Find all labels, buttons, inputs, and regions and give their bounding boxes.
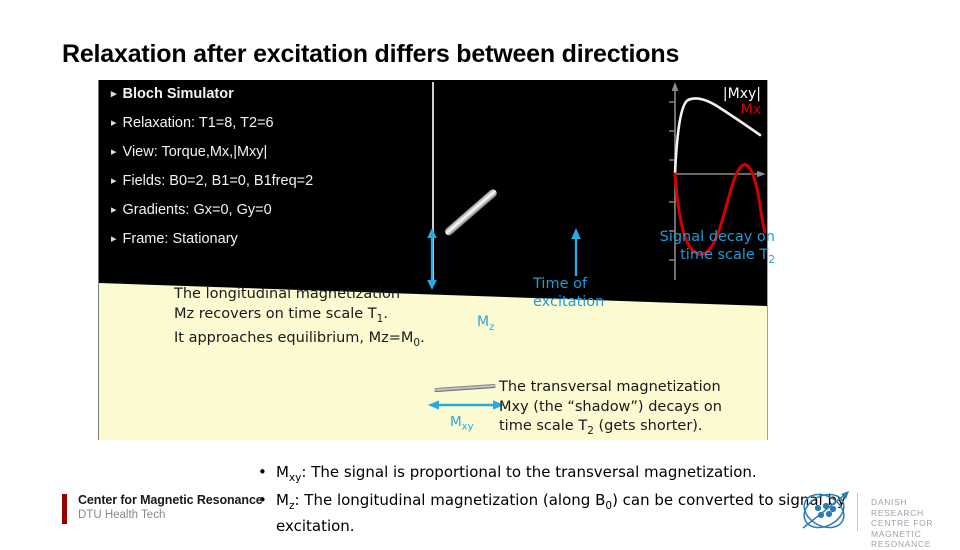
mxy-label-sub: xy bbox=[462, 422, 474, 433]
list-bullet-icon: ▸ bbox=[111, 146, 117, 158]
longitudinal-line2b: . bbox=[383, 306, 388, 322]
sim-line-4-text: Gradients: Gx=0, Gy=0 bbox=[123, 202, 272, 218]
list-bullet-icon: ▸ bbox=[111, 233, 117, 245]
sim-line-3: ▸Fields: B0=2, B1=0, B1freq=2 bbox=[111, 173, 313, 189]
cmr-logo-line2: DTU Health Tech bbox=[78, 509, 165, 521]
bullet-1-post: : The longitudinal magnetization (along … bbox=[294, 491, 605, 509]
mz-arrow-icon bbox=[419, 228, 445, 290]
logo-divider bbox=[857, 493, 858, 531]
drcmr-logo: DANISH RESEARCH CENTRE FOR MAGNETIC RESO… bbox=[795, 488, 960, 538]
sim-line-2: ▸View: Torque,Mx,|Mxy| bbox=[111, 144, 267, 160]
cmr-logo: Center for Magnetic Resonance DTU Health… bbox=[62, 492, 292, 528]
sim-line-1: ▸Relaxation: T1=8, T2=6 bbox=[111, 115, 274, 131]
list-bullet-icon: ▸ bbox=[111, 117, 117, 129]
list-bullet-icon: ▸ bbox=[111, 204, 117, 216]
transversal-line1: The transversal magnetization bbox=[499, 379, 721, 395]
time-of-excitation-arrow-icon bbox=[566, 228, 586, 276]
sim-line-5-text: Frame: Stationary bbox=[123, 231, 238, 247]
transversal-line3a: time scale T bbox=[499, 418, 587, 434]
mz-label-sub: z bbox=[489, 322, 494, 333]
sim-line-1-text: Relaxation: T1=8, T2=6 bbox=[123, 115, 274, 131]
sim-line-4: ▸Gradients: Gx=0, Gy=0 bbox=[111, 202, 272, 218]
drcmr-line3: MAGNETIC RESONANCE bbox=[871, 529, 960, 550]
time-of-excitation-annotation: Time of excitation bbox=[533, 275, 643, 311]
drcmr-atom-icon bbox=[795, 488, 853, 534]
longitudinal-line1: The longitudinal magnetization bbox=[174, 286, 400, 302]
logo-accent-bar bbox=[62, 494, 67, 524]
sim-line-2-text: View: Torque,Mx,|Mxy| bbox=[123, 144, 268, 160]
longitudinal-line2a: Mz recovers on time scale T bbox=[174, 306, 377, 322]
mxy-arrow-icon bbox=[428, 396, 504, 414]
slide-canvas: Relaxation after excitation differs betw… bbox=[0, 0, 960, 540]
page-title: Relaxation after excitation differs betw… bbox=[62, 40, 892, 69]
transversal-text-block: The transversal magnetization Mxy (the “… bbox=[499, 378, 722, 441]
mz-label-text: M bbox=[477, 314, 489, 330]
legend-mx: Mx bbox=[741, 102, 761, 118]
list-bullet-icon: ▸ bbox=[111, 88, 117, 100]
longitudinal-text-block: The longitudinal magnetization Mz recove… bbox=[174, 285, 425, 353]
signal-decay-sub: 2 bbox=[768, 254, 775, 266]
mxy-label-text: M bbox=[450, 414, 462, 430]
signal-decay-annotation: Signal decay on time scale T2 bbox=[625, 228, 775, 269]
mxy-label: Mxy bbox=[450, 414, 474, 433]
sim-line-0-text: Bloch Simulator bbox=[123, 86, 234, 102]
bullet-dot-icon: • bbox=[258, 462, 267, 483]
bullet-0-sub: xy bbox=[289, 472, 301, 484]
bullet-item-0: •Mxy: The signal is proportional to the … bbox=[256, 462, 896, 489]
transversal-line3sub: 2 bbox=[587, 425, 594, 437]
list-bullet-icon: ▸ bbox=[111, 175, 117, 187]
longitudinal-line3b: . bbox=[420, 330, 425, 346]
sim-line-5: ▸Frame: Stationary bbox=[111, 231, 238, 247]
sim-line-3-text: Fields: B0=2, B1=0, B1freq=2 bbox=[123, 173, 314, 189]
mz-label: Mz bbox=[477, 314, 494, 333]
drcmr-logo-text: DANISH RESEARCH CENTRE FOR MAGNETIC RESO… bbox=[871, 497, 960, 550]
magnetization-vector bbox=[443, 188, 498, 237]
time-excitation-line1: Time of bbox=[533, 276, 587, 292]
transversal-line3b: (gets shorter). bbox=[594, 418, 703, 434]
drcmr-line1: DANISH RESEARCH bbox=[871, 497, 960, 518]
legend-mxy: |Mxy| bbox=[723, 86, 761, 102]
sim-line-0: ▸Bloch Simulator bbox=[111, 86, 234, 102]
bullet-0-pre: M bbox=[276, 463, 289, 481]
signal-decay-line2: time scale T bbox=[680, 247, 768, 263]
cmr-logo-line1: Center for Magnetic Resonance bbox=[78, 493, 263, 507]
bullet-0-post: : The signal is proportional to the tran… bbox=[301, 463, 756, 481]
transversal-line2: Mxy (the “shadow”) decays on bbox=[499, 399, 722, 415]
time-excitation-line2: excitation bbox=[533, 294, 604, 310]
signal-decay-line1: Signal decay on bbox=[660, 229, 775, 245]
drcmr-line2: CENTRE FOR bbox=[871, 518, 960, 529]
longitudinal-line3a: It approaches equilibrium, Mz=M bbox=[174, 330, 413, 346]
